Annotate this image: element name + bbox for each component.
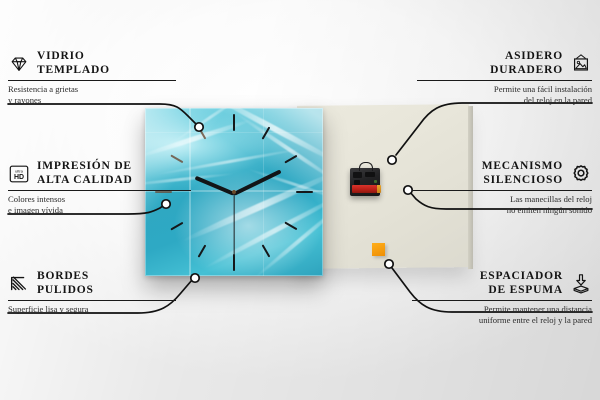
foam-spacer (372, 243, 385, 256)
feature-title-line2: PULIDOS (37, 284, 94, 298)
gear-icon (570, 163, 592, 185)
feature-title-line2: TEMPLADO (37, 64, 110, 78)
feature-divider (412, 190, 592, 191)
feature-title-line2: SILENCIOSO (482, 174, 563, 188)
feature-divider (412, 300, 592, 301)
feature-desc-line2: no emiten ningún sonido (412, 205, 592, 216)
feature-desc-line2: e imagen vívida (8, 205, 198, 216)
feature-desc-line1: Superficie lisa y segura (8, 304, 183, 315)
feature-desc-line2: uniforme entre el reloj y la pared (412, 315, 592, 326)
feature-header: MECANISMO SILENCIOSO (412, 160, 592, 187)
feature-desc-line1: Las manecillas del reloj (412, 194, 592, 205)
feature-impresion-alta-calidad: ultra HD IMPRESIÓN DE ALTA CALIDAD Color… (8, 160, 198, 216)
feature-title-line1: IMPRESIÓN DE (37, 160, 133, 174)
mechanism-hanger-hook (359, 162, 373, 171)
hanging-picture-icon (570, 53, 592, 75)
feature-title-line1: VIDRIO (37, 50, 110, 64)
feature-title-line1: MECANISMO (482, 160, 563, 174)
diagonal-lines-icon (8, 273, 30, 295)
feature-title-line1: BORDES (37, 270, 94, 284)
feature-mecanismo-silencioso: MECANISMO SILENCIOSO Las manecillas del … (412, 160, 592, 216)
feature-header: ESPACIADOR DE ESPUMA (412, 270, 592, 297)
feature-header: BORDES PULIDOS (8, 270, 183, 297)
ultra-hd-icon: ultra HD (8, 163, 30, 185)
feature-desc-line2: del reloj en la pared (417, 95, 592, 106)
feature-desc-line1: Permite una fácil instalación (417, 84, 592, 95)
feature-title-line1: ASIDERO (490, 50, 563, 64)
feature-header: ultra HD IMPRESIÓN DE ALTA CALIDAD (8, 160, 198, 187)
feature-divider (8, 80, 176, 81)
clock-mechanism (350, 168, 380, 196)
feature-desc-line2: y rayones (8, 95, 183, 106)
feature-espaciador-de-espuma: ESPACIADOR DE ESPUMA Permite mantener un… (412, 270, 592, 326)
feature-title-line2: ALTA CALIDAD (37, 174, 133, 188)
infographic-canvas: VIDRIO TEMPLADO Resistencia a grietas y … (0, 0, 600, 400)
feature-title-line2: DURADERO (490, 64, 563, 78)
battery (352, 185, 377, 193)
feature-title-line2: DE ESPUMA (480, 284, 563, 298)
feature-divider (8, 300, 176, 301)
press-down-arrow-icon (570, 273, 592, 295)
diamond-icon (8, 53, 30, 75)
feature-desc-line1: Colores intensos (8, 194, 198, 205)
feature-desc-line1: Permite mantener una distancia (412, 304, 592, 315)
feature-bordes-pulidos: BORDES PULIDOS Superficie lisa y segura (8, 270, 183, 315)
svg-text:HD: HD (14, 174, 24, 181)
svg-text:ultra: ultra (15, 168, 24, 173)
feature-divider (8, 190, 191, 191)
feature-desc-line1: Resistencia a grietas (8, 84, 183, 95)
feature-header: VIDRIO TEMPLADO (8, 50, 183, 77)
feature-asidero-duradero: ASIDERO DURADERO Permite una fácil insta… (417, 50, 592, 106)
feature-title-line1: ESPACIADOR (480, 270, 563, 284)
feature-divider (417, 80, 592, 81)
feature-vidrio-templado: VIDRIO TEMPLADO Resistencia a grietas y … (8, 50, 183, 106)
feature-header: ASIDERO DURADERO (417, 50, 592, 77)
